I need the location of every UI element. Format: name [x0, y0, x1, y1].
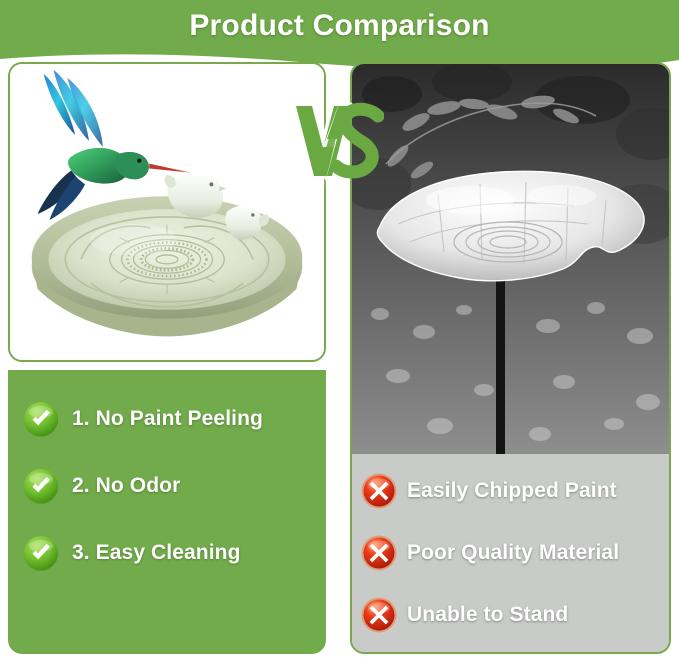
- page-title: Product Comparison: [0, 9, 679, 43]
- cons-list: Easily Chipped Paint Poor Quality Materi…: [360, 472, 665, 634]
- left-product-column: 1. No Paint Peeling 2. No Odor: [8, 62, 326, 654]
- right-product-card: Easily Chipped Paint Poor Quality Materi…: [350, 62, 671, 654]
- check-circle-icon: [22, 400, 60, 438]
- x-circle-icon: [360, 596, 398, 634]
- check-circle-icon: [22, 534, 60, 572]
- list-item-label: Easily Chipped Paint: [407, 479, 617, 503]
- list-item-label: Poor Quality Material: [407, 541, 619, 565]
- garden-scene: [352, 64, 669, 454]
- list-item: 3. Easy Cleaning: [22, 534, 320, 572]
- product-comparison-graphic: Product Comparison: [0, 0, 679, 662]
- left-product-photo: [10, 64, 324, 360]
- right-product-column: Easily Chipped Paint Poor Quality Materi…: [350, 62, 671, 654]
- list-item-label: 3. Easy Cleaning: [72, 541, 241, 565]
- list-item-label: Unable to Stand: [407, 603, 568, 627]
- list-item: 1. No Paint Peeling: [22, 400, 320, 438]
- list-item: Easily Chipped Paint: [360, 472, 665, 510]
- pros-list: 1. No Paint Peeling 2. No Odor: [22, 400, 320, 572]
- left-product-card: [8, 62, 326, 362]
- check-circle-icon: [22, 467, 60, 505]
- list-item-label: 2. No Odor: [72, 474, 180, 498]
- x-circle-icon: [360, 472, 398, 510]
- x-circle-icon: [360, 534, 398, 572]
- left-pros-panel: 1. No Paint Peeling 2. No Odor: [8, 370, 326, 654]
- list-item: 2. No Odor: [22, 467, 320, 505]
- list-item: Unable to Stand: [360, 596, 665, 634]
- right-product-photo: [352, 64, 669, 454]
- list-item-label: 1. No Paint Peeling: [72, 407, 263, 431]
- list-item: Poor Quality Material: [360, 534, 665, 572]
